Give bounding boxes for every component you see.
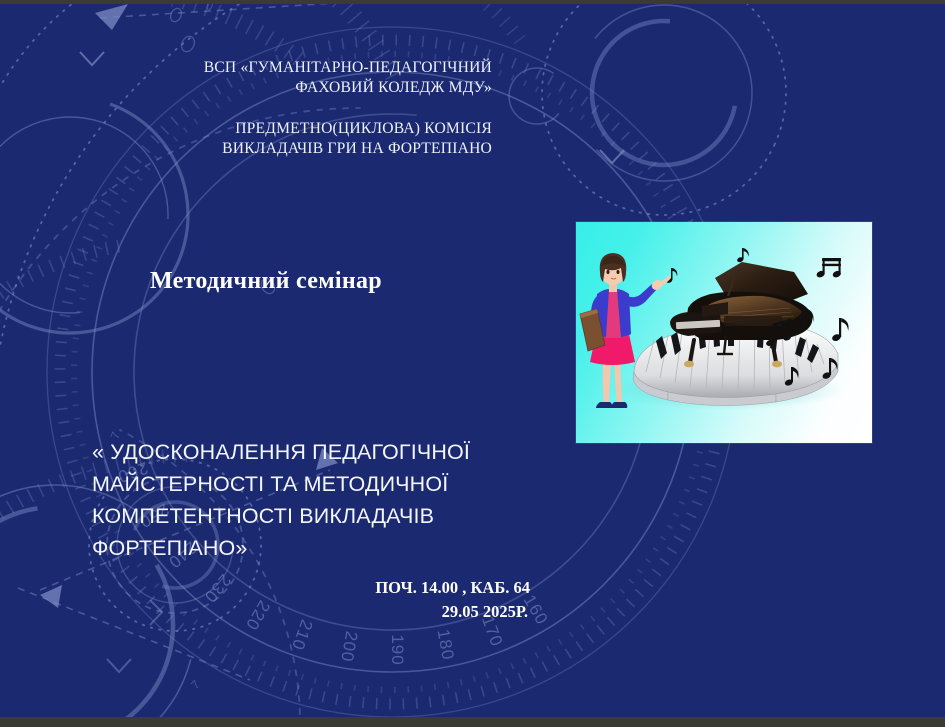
shoe-right — [611, 402, 627, 408]
event-time-room: ПОЧ. 14.00 , КАБ. 64 — [200, 576, 530, 600]
shoe-left — [596, 402, 612, 408]
seminar-label: Методичний семінар — [150, 268, 382, 295]
org-spacer — [120, 98, 492, 119]
heading-line-4: ФОРТЕПІАНО» — [92, 532, 492, 564]
event-date: 29.05 2025Р. — [200, 600, 530, 624]
note-beamed-pair-1 — [816, 258, 842, 279]
heading-line-3: КОМПЕТЕНТНОСТІ ВИКЛАДАЧІВ — [92, 500, 492, 532]
org-line-3: ПРЕДМЕТНО(ЦИКЛОВА) КОМІСІЯ — [120, 119, 492, 139]
presentation-slide: 160 170 180 190 200 210 220 230 240 250 … — [0, 0, 945, 727]
note-eighth-2 — [831, 318, 848, 342]
top-letterbox-bar — [0, 0, 945, 4]
event-details: ПОЧ. 14.00 , КАБ. 64 29.05 2025Р. — [200, 576, 530, 624]
bottom-letterbox-bar — [0, 717, 945, 727]
heading-line-1: « УДОСКОНАЛЕННЯ ПЕДАГОГІЧНОЇ — [92, 436, 492, 468]
org-line-1: ВСП «ГУМАНІТАРНО-ПЕДАГОГІЧНИЙ — [120, 58, 492, 78]
piano-illustration — [576, 222, 872, 443]
organization-block: ВСП «ГУМАНІТАРНО-ПЕДАГОГІЧНИЙ ФАХОВИЙ КО… — [120, 58, 492, 159]
main-heading: « УДОСКОНАЛЕННЯ ПЕДАГОГІЧНОЇ МАЙСТЕРНОСТ… — [92, 436, 492, 564]
note-small-2 — [736, 248, 748, 263]
leg-left — [603, 359, 611, 402]
org-line-2: ФАХОВИЙ КОЛЕДЖ МДУ» — [120, 78, 492, 98]
org-line-4: ВИКЛАДАЧІВ ГРИ НА ФОРТЕПІАНО — [120, 139, 492, 159]
heading-line-2: МАЙСТЕРНОСТІ ТА МЕТОДИЧНОЇ — [92, 468, 492, 500]
